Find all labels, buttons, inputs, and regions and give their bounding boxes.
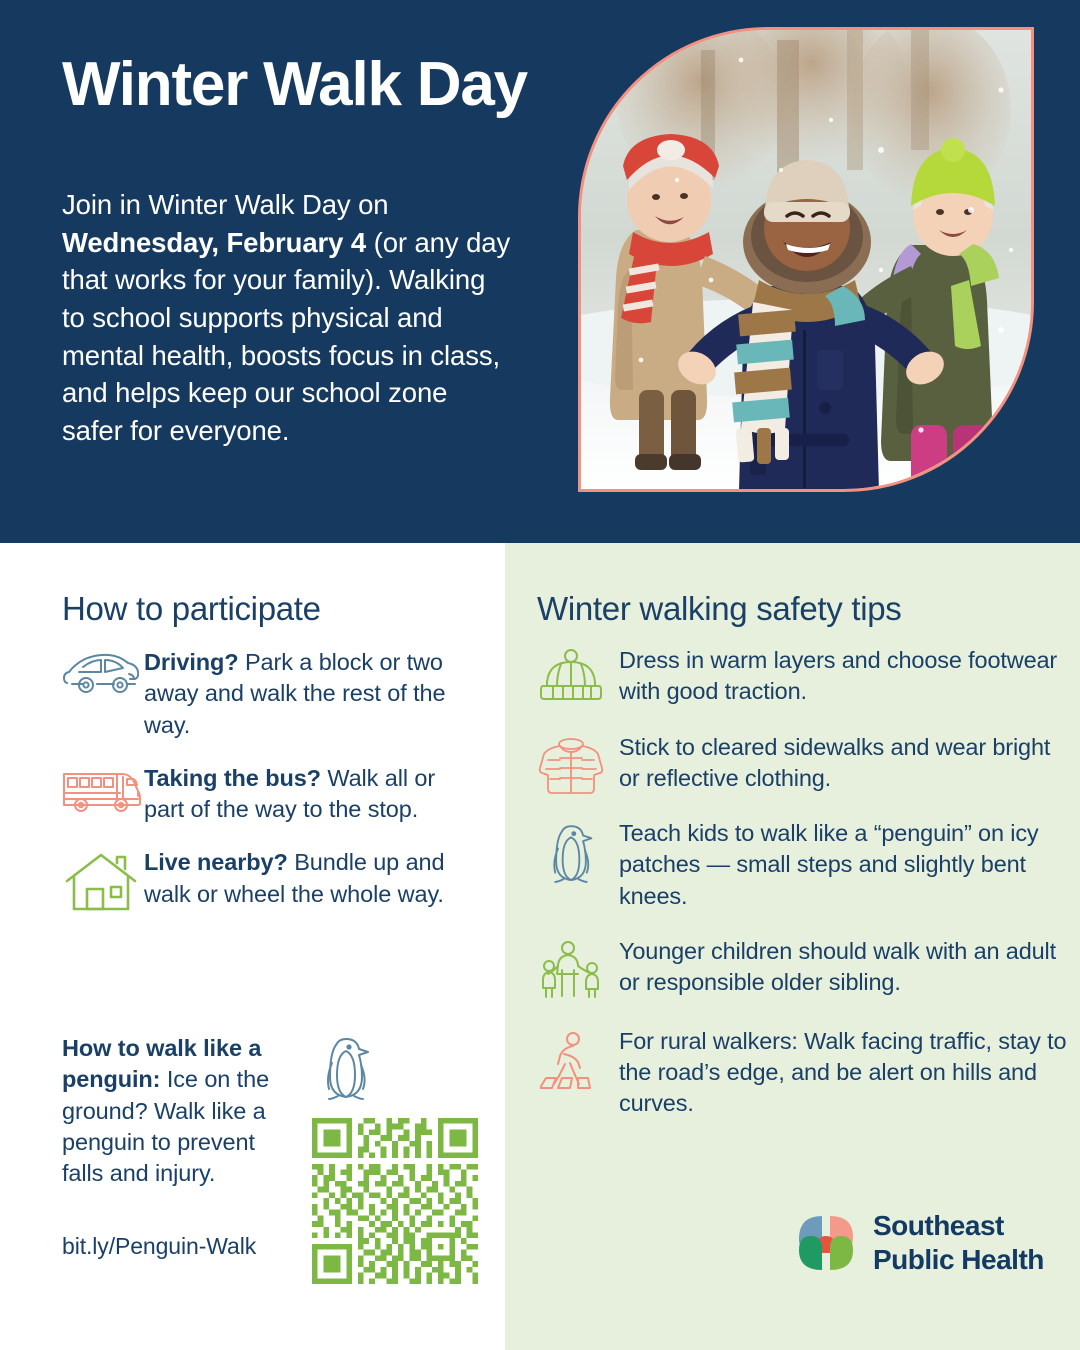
organization-logo: Southeast Public Health: [795, 1209, 1044, 1276]
winter-children-photo-illustration: [581, 30, 1031, 489]
car-icon: [58, 643, 144, 695]
list-item: Taking the bus? Walk all or part of the …: [58, 759, 478, 826]
hero-description: Join in Winter Walk Day on Wednesday, Fe…: [62, 186, 514, 450]
penguin-callout-text: How to walk like a penguin: Ice on the g…: [62, 1033, 290, 1189]
list-item-lead: Taking the bus?: [144, 765, 321, 791]
family-walking-icon: [523, 934, 619, 1002]
hero-event-date: Wednesday, February 4: [62, 227, 366, 258]
page-title: Winter Walk Day: [62, 52, 622, 117]
hero-photo: [578, 27, 1034, 492]
list-item-text: Live nearby? Bundle up and walk or wheel…: [144, 843, 478, 910]
pedestrian-crosswalk-icon: [523, 1024, 619, 1092]
list-item: Stick to cleared sidewalks and wear brig…: [523, 730, 1068, 795]
hero-banner: Winter Walk Day Join in Winter Walk Day …: [0, 0, 1080, 543]
house-icon: [58, 843, 144, 913]
list-item-text: Younger children should walk with an adu…: [619, 934, 1068, 999]
organization-name-line2: Public Health: [873, 1243, 1044, 1277]
list-item: Live nearby? Bundle up and walk or wheel…: [58, 843, 478, 913]
winter-walk-day-poster: Winter Walk Day Join in Winter Walk Day …: [0, 0, 1080, 1350]
puffer-jacket-icon: [523, 730, 619, 794]
list-item-lead: Driving?: [144, 649, 239, 675]
hero-description-part2: (or any day that works for your family).…: [62, 227, 510, 446]
list-item-text: Stick to cleared sidewalks and wear brig…: [619, 730, 1068, 795]
safety-tips-list: Dress in warm layers and choose footwear…: [523, 643, 1068, 1142]
organization-name-line1: Southeast: [873, 1209, 1044, 1243]
qr-code[interactable]: [312, 1118, 478, 1284]
organization-name: Southeast Public Health: [873, 1209, 1044, 1276]
leaf-cluster-logo-icon: [795, 1212, 857, 1274]
list-item: For rural walkers: Walk facing traffic, …: [523, 1024, 1068, 1120]
penguin-walk-link[interactable]: bit.ly/Penguin-Walk: [62, 1233, 256, 1260]
penguin-icon: [318, 1035, 374, 1110]
safety-tips-heading: Winter walking safety tips: [537, 590, 902, 628]
list-item-lead: Live nearby?: [144, 849, 288, 875]
hero-photo-canvas: [581, 30, 1031, 489]
list-item: Dress in warm layers and choose footwear…: [523, 643, 1068, 708]
winter-hat-icon: [523, 643, 619, 701]
school-bus-icon: [58, 759, 144, 813]
participate-heading: How to participate: [62, 590, 321, 628]
list-item: Younger children should walk with an adu…: [523, 934, 1068, 1002]
list-item-text: Taking the bus? Walk all or part of the …: [144, 759, 478, 826]
list-item-text: Driving? Park a block or two away and wa…: [144, 643, 478, 741]
qr-code-image: [312, 1118, 478, 1284]
list-item-text: Teach kids to walk like a “penguin” on i…: [619, 816, 1068, 912]
safety-tips-panel: Winter walking safety tips Dress in warm…: [505, 543, 1080, 1350]
list-item-text: For rural walkers: Walk facing traffic, …: [619, 1024, 1068, 1120]
list-item: Driving? Park a block or two away and wa…: [58, 643, 478, 741]
list-item-text: Dress in warm layers and choose footwear…: [619, 643, 1068, 708]
list-item: Teach kids to walk like a “penguin” on i…: [523, 816, 1068, 912]
hero-description-part1: Join in Winter Walk Day on: [62, 189, 389, 220]
penguin-icon: [523, 816, 619, 888]
participate-panel: How to participate Driving? P: [0, 543, 505, 1350]
participate-list: Driving? Park a block or two away and wa…: [58, 643, 478, 931]
